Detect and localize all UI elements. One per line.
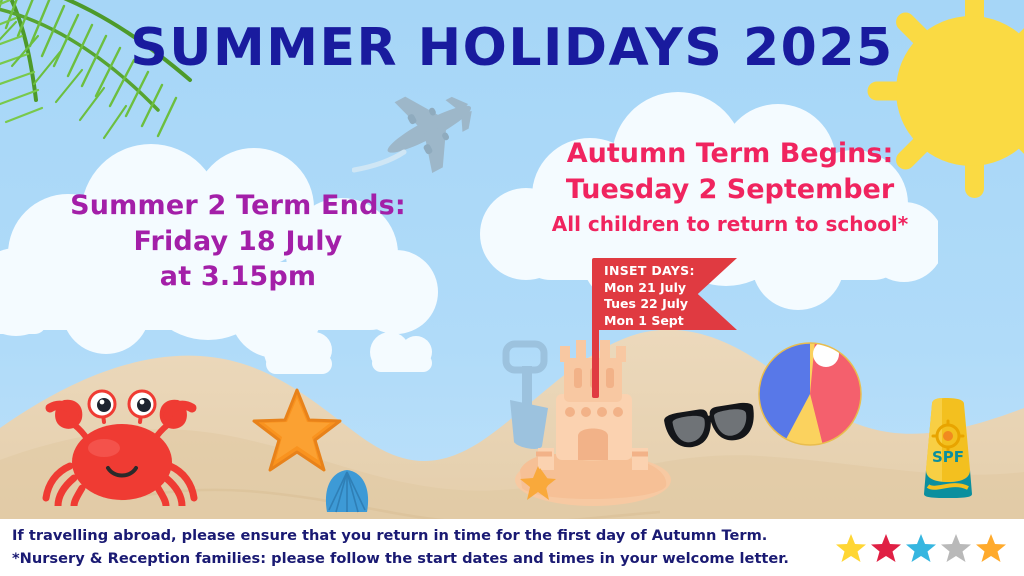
autumn-term-line-1: Autumn Term Begins: <box>520 136 940 172</box>
summer-holidays-poster: SPF INSET DAYS: Mon 21 July Tues 22 July… <box>0 0 1024 576</box>
star-blue-icon <box>906 533 936 563</box>
inset-days-heading: INSET DAYS: <box>604 263 695 280</box>
autumn-term-begins-text: Autumn Term Begins: Tuesday 2 September … <box>520 136 940 238</box>
summer-term-ends-line-2: Friday 18 July <box>28 224 448 260</box>
autumn-term-line-3: All children to return to school* <box>520 211 940 237</box>
sunscreen-icon: SPF <box>912 396 984 504</box>
seashell-icon <box>322 468 372 520</box>
footer-line-2: *Nursery & Reception families: please fo… <box>12 548 789 571</box>
page-title: SUMMER HOLIDAYS 2025 <box>0 18 1024 78</box>
beach-ball-icon <box>756 340 864 452</box>
autumn-term-line-2: Tuesday 2 September <box>520 172 940 208</box>
footer-text: If travelling abroad, please ensure that… <box>0 525 789 570</box>
footer-line-1: If travelling abroad, please ensure that… <box>12 525 789 548</box>
inset-day-2: Tues 22 July <box>604 296 695 313</box>
sunglasses-icon <box>662 402 758 460</box>
footer-bar: If travelling abroad, please ensure that… <box>0 519 1024 576</box>
summer-term-ends-line-3: at 3.15pm <box>28 259 448 295</box>
star-yellow-icon <box>836 533 866 563</box>
spf-label: SPF <box>932 448 964 466</box>
star-orange-icon <box>976 533 1006 563</box>
inset-days-text: INSET DAYS: Mon 21 July Tues 22 July Mon… <box>604 263 695 329</box>
star-rating-decor <box>836 533 1024 563</box>
star-red-icon <box>871 533 901 563</box>
summer-term-ends-text: Summer 2 Term Ends: Friday 18 July at 3.… <box>28 188 448 295</box>
crab-icon <box>42 388 202 510</box>
star-grey-icon <box>941 533 971 563</box>
starfish-icon <box>252 388 342 478</box>
inset-day-1: Mon 21 July <box>604 280 695 297</box>
summer-term-ends-line-1: Summer 2 Term Ends: <box>28 188 448 224</box>
inset-day-3: Mon 1 Sept <box>604 313 695 330</box>
